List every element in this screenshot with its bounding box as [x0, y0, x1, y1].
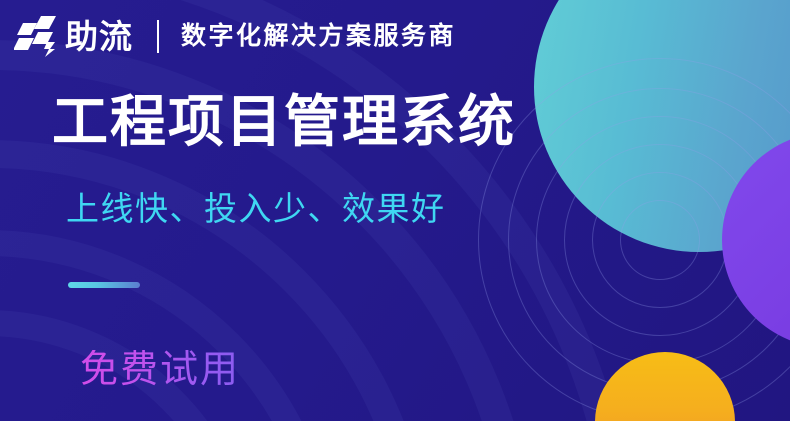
- promo-banner: 助流 数字化解决方案服务商 工程项目管理系统 上线快、投入少、效果好 免费试用: [0, 0, 790, 421]
- free-trial-cta[interactable]: 免费试用: [80, 350, 240, 392]
- brand-tagline: 数字化解决方案服务商: [181, 24, 456, 49]
- accent-divider-bar: [68, 282, 140, 288]
- hero-subtitle: 上线快、投入少、效果好: [66, 190, 446, 228]
- page-title: 工程项目管理系统: [52, 92, 516, 152]
- brand-header: 助流 数字化解决方案服务商: [14, 12, 456, 60]
- banner-content: 助流 数字化解决方案服务商 工程项目管理系统 上线快、投入少、效果好 免费试用: [0, 0, 790, 421]
- brand-divider: [157, 20, 159, 53]
- flow-parallelogram-logo-icon: [14, 14, 60, 58]
- logo-wordmark: 助流: [65, 20, 133, 53]
